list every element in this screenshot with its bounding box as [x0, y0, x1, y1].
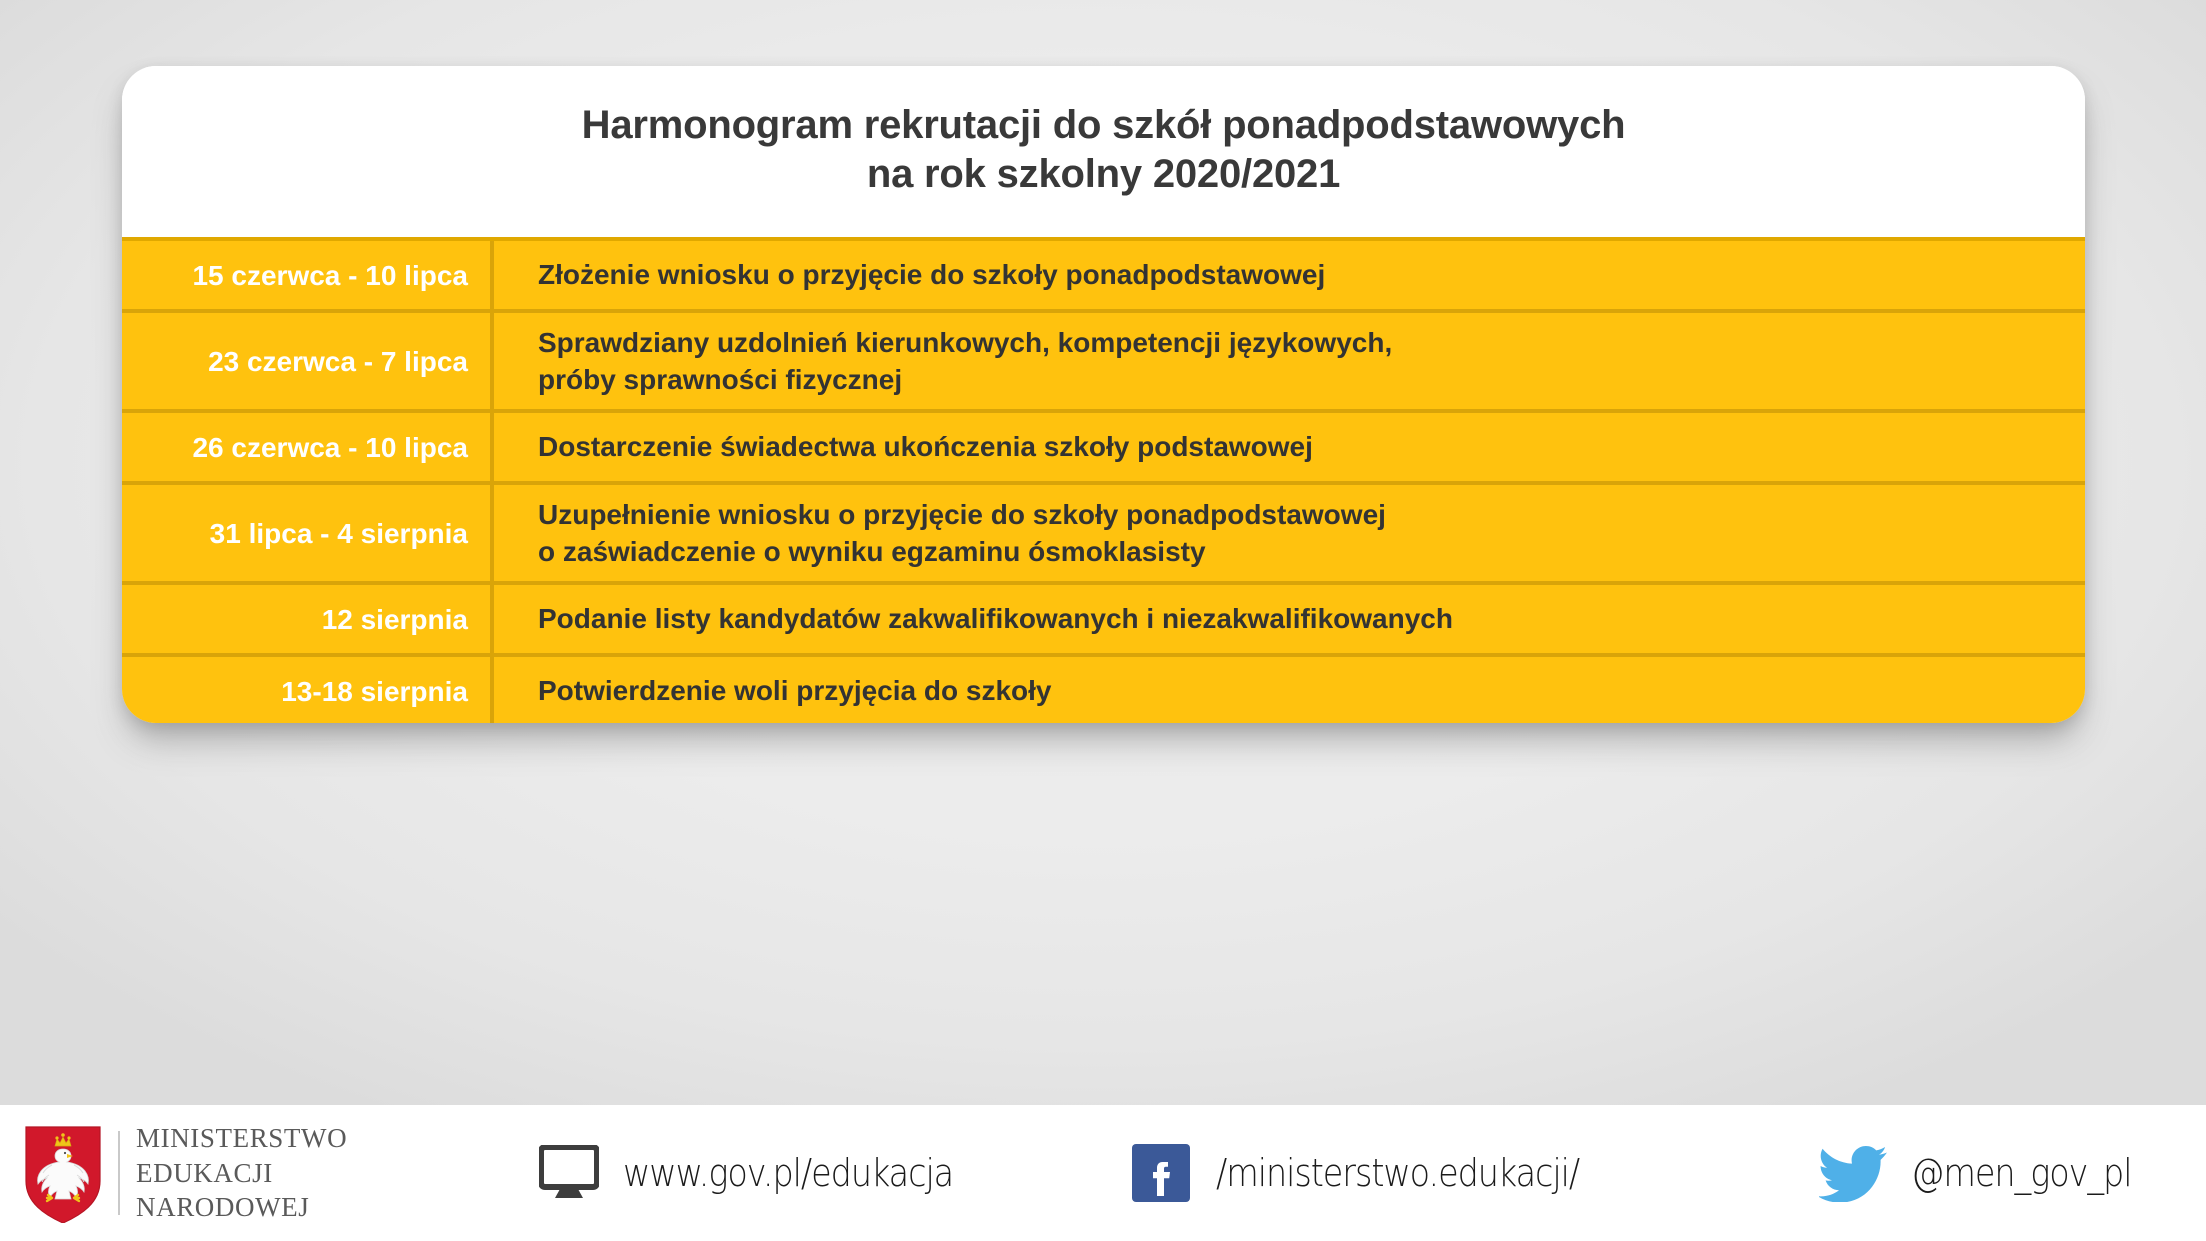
- table-cell-date: 26 czerwca - 10 lipca: [122, 413, 494, 481]
- date-label: 31 lipca - 4 sierpnia: [210, 516, 468, 551]
- description-line-1: Podanie listy kandydatów zakwalifikowany…: [538, 603, 1453, 634]
- description-line-2: próby sprawności fizycznej: [538, 361, 1392, 398]
- description-label: Złożenie wniosku o przyjęcie do szkoły p…: [538, 256, 1325, 293]
- table-cell-description: Sprawdziany uzdolnień kierunkowych, komp…: [494, 313, 2085, 409]
- page-title-line-2: na rok szkolny 2020/2021: [867, 150, 1340, 199]
- description-label: Dostarczenie świadectwa ukończenia szkoł…: [538, 428, 1313, 465]
- website-label: www.gov.pl/edukacja: [623, 1151, 953, 1195]
- description-line-1: Sprawdziany uzdolnień kierunkowych, komp…: [538, 327, 1392, 358]
- ministry-name: MINISTERSTWO EDUKACJI NARODOWEJ: [136, 1121, 347, 1225]
- footer-bar: MINISTERSTWO EDUKACJI NARODOWEJ www.gov.…: [0, 1105, 2206, 1241]
- ministry-name-line-2: EDUKACJI: [136, 1156, 347, 1191]
- polish-coat-of-arms-icon: [22, 1123, 104, 1223]
- table-cell-date: 15 czerwca - 10 lipca: [122, 241, 494, 309]
- date-label: 12 sierpnia: [322, 602, 468, 637]
- facebook-icon: [1132, 1144, 1190, 1202]
- website-link[interactable]: www.gov.pl/edukacja: [539, 1145, 998, 1201]
- facebook-label: /ministerstwo.edukacji/: [1216, 1151, 1579, 1195]
- table-cell-description: Złożenie wniosku o przyjęcie do szkoły p…: [494, 241, 2085, 309]
- date-label: 13-18 sierpnia: [281, 674, 468, 709]
- infographic-page: Harmonogram rekrutacji do szkół ponadpod…: [0, 0, 2206, 1241]
- facebook-link[interactable]: /ministerstwo.edukacji/: [1132, 1144, 1629, 1202]
- date-label: 15 czerwca - 10 lipca: [192, 258, 468, 293]
- description-line-1: Dostarczenie świadectwa ukończenia szkoł…: [538, 431, 1313, 462]
- description-label: Podanie listy kandydatów zakwalifikowany…: [538, 600, 1453, 637]
- table-row: 15 czerwca - 10 lipca Złożenie wniosku o…: [122, 241, 2085, 313]
- description-label: Potwierdzenie woli przyjęcia do szkoły: [538, 672, 1051, 709]
- date-label: 26 czerwca - 10 lipca: [192, 430, 468, 465]
- table-row: 31 lipca - 4 sierpnia Uzupełnienie wnios…: [122, 485, 2085, 585]
- description-label: Sprawdziany uzdolnień kierunkowych, komp…: [538, 324, 1392, 398]
- description-line-1: Złożenie wniosku o przyjęcie do szkoły p…: [538, 259, 1325, 290]
- monitor-icon: [539, 1145, 599, 1201]
- table-cell-description: Potwierdzenie woli przyjęcia do szkoły: [494, 657, 2085, 723]
- table-row: 13-18 sierpnia Potwierdzenie woli przyję…: [122, 657, 2085, 723]
- schedule-card: Harmonogram rekrutacji do szkół ponadpod…: [122, 66, 2085, 723]
- description-line-2: o zaświadczenie o wyniku egzaminu ósmokl…: [538, 533, 1386, 570]
- twitter-icon: [1819, 1144, 1889, 1202]
- table-cell-date: 12 sierpnia: [122, 585, 494, 653]
- twitter-label: @men_gov_pl: [1911, 1151, 2131, 1195]
- description-line-1: Potwierdzenie woli przyjęcia do szkoły: [538, 675, 1051, 706]
- table-cell-date: 23 czerwca - 7 lipca: [122, 313, 494, 409]
- ministry-logo: MINISTERSTWO EDUKACJI NARODOWEJ: [22, 1121, 347, 1225]
- table-row: 26 czerwca - 10 lipca Dostarczenie świad…: [122, 413, 2085, 485]
- table-cell-date: 13-18 sierpnia: [122, 657, 494, 723]
- logo-divider: [118, 1131, 120, 1215]
- table-row: 12 sierpnia Podanie listy kandydatów zak…: [122, 585, 2085, 657]
- card-title-block: Harmonogram rekrutacji do szkół ponadpod…: [122, 66, 2085, 237]
- table-cell-description: Podanie listy kandydatów zakwalifikowany…: [494, 585, 2085, 653]
- table-cell-date: 31 lipca - 4 sierpnia: [122, 485, 494, 581]
- schedule-table: 15 czerwca - 10 lipca Złożenie wniosku o…: [122, 237, 2085, 723]
- page-title-line-1: Harmonogram rekrutacji do szkół ponadpod…: [582, 101, 1626, 150]
- table-row: 23 czerwca - 7 lipca Sprawdziany uzdolni…: [122, 313, 2085, 413]
- description-line-1: Uzupełnienie wniosku o przyjęcie do szko…: [538, 499, 1386, 530]
- table-cell-description: Uzupełnienie wniosku o przyjęcie do szko…: [494, 485, 2085, 581]
- table-cell-description: Dostarczenie świadectwa ukończenia szkoł…: [494, 413, 2085, 481]
- twitter-link[interactable]: @men_gov_pl: [1819, 1144, 2162, 1202]
- description-label: Uzupełnienie wniosku o przyjęcie do szko…: [538, 496, 1386, 570]
- ministry-name-line-1: MINISTERSTWO: [136, 1121, 347, 1156]
- date-label: 23 czerwca - 7 lipca: [208, 344, 468, 379]
- ministry-name-line-3: NARODOWEJ: [136, 1190, 347, 1225]
